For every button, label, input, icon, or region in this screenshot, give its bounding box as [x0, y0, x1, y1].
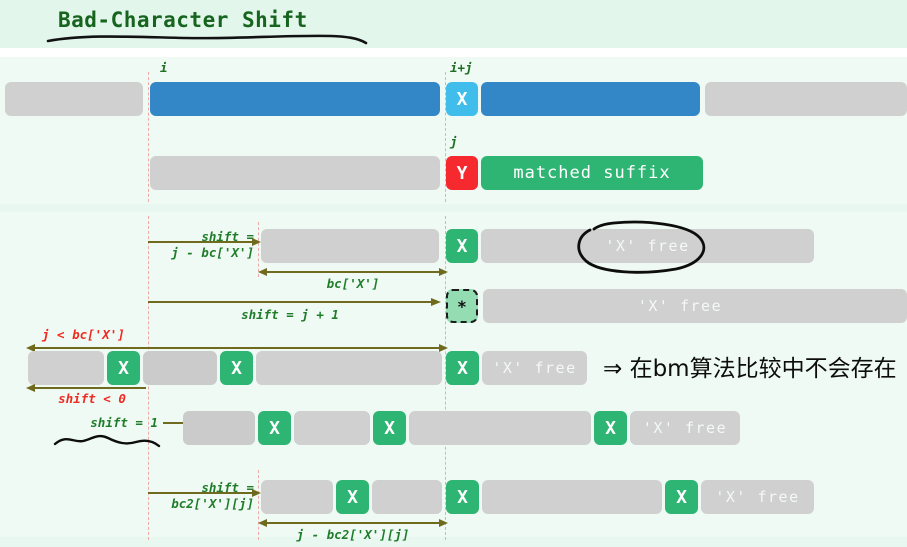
matched-suffix-bar: matched suffix: [481, 156, 703, 190]
row6-segment-c: [409, 411, 591, 445]
shift-bc-label-line1: shift =: [158, 229, 254, 244]
row7-x-box-2: X: [446, 480, 479, 514]
axis-label-i: i: [160, 60, 168, 75]
bc-x-measure-label: bc['X']: [278, 276, 428, 291]
row7-x-free-segment: 'X' free: [701, 480, 814, 514]
cjk-handwritten-note: ⇒ 在bm算法比较中不会存在: [603, 349, 897, 383]
row5-x-box-2: X: [220, 351, 253, 385]
row5-segment-b: [143, 351, 217, 385]
shift-bc2-label-line2: bc2['X'][j]: [146, 496, 254, 511]
shift-bc-label-line2: j - bc['X']: [150, 245, 254, 260]
page-title: Bad-Character Shift: [58, 8, 308, 32]
row7-segment-b: [372, 480, 442, 514]
shift-j-plus-1-label: shift = j + 1: [190, 307, 390, 322]
row5-segment-c: [256, 351, 442, 385]
text-window-left-segment: [150, 82, 440, 116]
guide-line-shift-start: [258, 222, 259, 277]
pattern-mismatch-char-box: Y: [446, 156, 478, 190]
text-suffix-segment: [705, 82, 907, 116]
row4-wildcard-box: *: [446, 289, 478, 323]
shift-lt-0-label: shift < 0: [32, 391, 152, 406]
diagram-canvas: Bad-Character Shift i i+j j X Y matched …: [0, 0, 907, 547]
title-underline-ink: [46, 30, 376, 48]
row6-x-box-1: X: [258, 411, 291, 445]
text-bad-char-box: X: [446, 82, 478, 116]
row6-x-box-3: X: [594, 411, 627, 445]
j-lt-bc-label: j < bc['X']: [42, 327, 125, 342]
row3-x-free-segment: 'X' free: [481, 229, 814, 263]
row6-x-free-segment: 'X' free: [630, 411, 740, 445]
band-separator-1: [0, 48, 907, 57]
pattern-left-segment: [150, 156, 440, 190]
row7-segment-c: [482, 480, 662, 514]
row5-x-box-3: X: [446, 351, 479, 385]
axis-label-j: j: [450, 134, 458, 149]
row7-x-box-1: X: [336, 480, 369, 514]
row5-x-free-segment: 'X' free: [482, 351, 587, 385]
band-separator-2: [0, 204, 907, 212]
shifted-window-row3-segment: [261, 229, 439, 263]
band-separator-3: [0, 537, 907, 547]
row5-segment-a: [28, 351, 104, 385]
shift-eq-1-label: shift = 1: [48, 415, 158, 430]
row6-segment-a: [183, 411, 255, 445]
row7-x-box-3: X: [665, 480, 698, 514]
text-prefix-segment: [5, 82, 143, 116]
guide-line-shift-start-2: [258, 470, 259, 540]
guide-line-i: [148, 72, 149, 202]
row3-x-box: X: [446, 229, 478, 263]
shift-bc2-label-line1: shift =: [158, 480, 254, 495]
j-minus-bc2-measure-label: j - bc2['X'][j]: [268, 527, 438, 542]
axis-label-i-plus-j: i+j: [450, 60, 473, 75]
row7-segment-a: [261, 480, 333, 514]
row6-segment-b: [294, 411, 370, 445]
text-window-right-segment: [481, 82, 700, 116]
row6-x-box-2: X: [373, 411, 406, 445]
row4-x-free-segment: 'X' free: [483, 289, 907, 323]
row5-x-box-1: X: [107, 351, 140, 385]
